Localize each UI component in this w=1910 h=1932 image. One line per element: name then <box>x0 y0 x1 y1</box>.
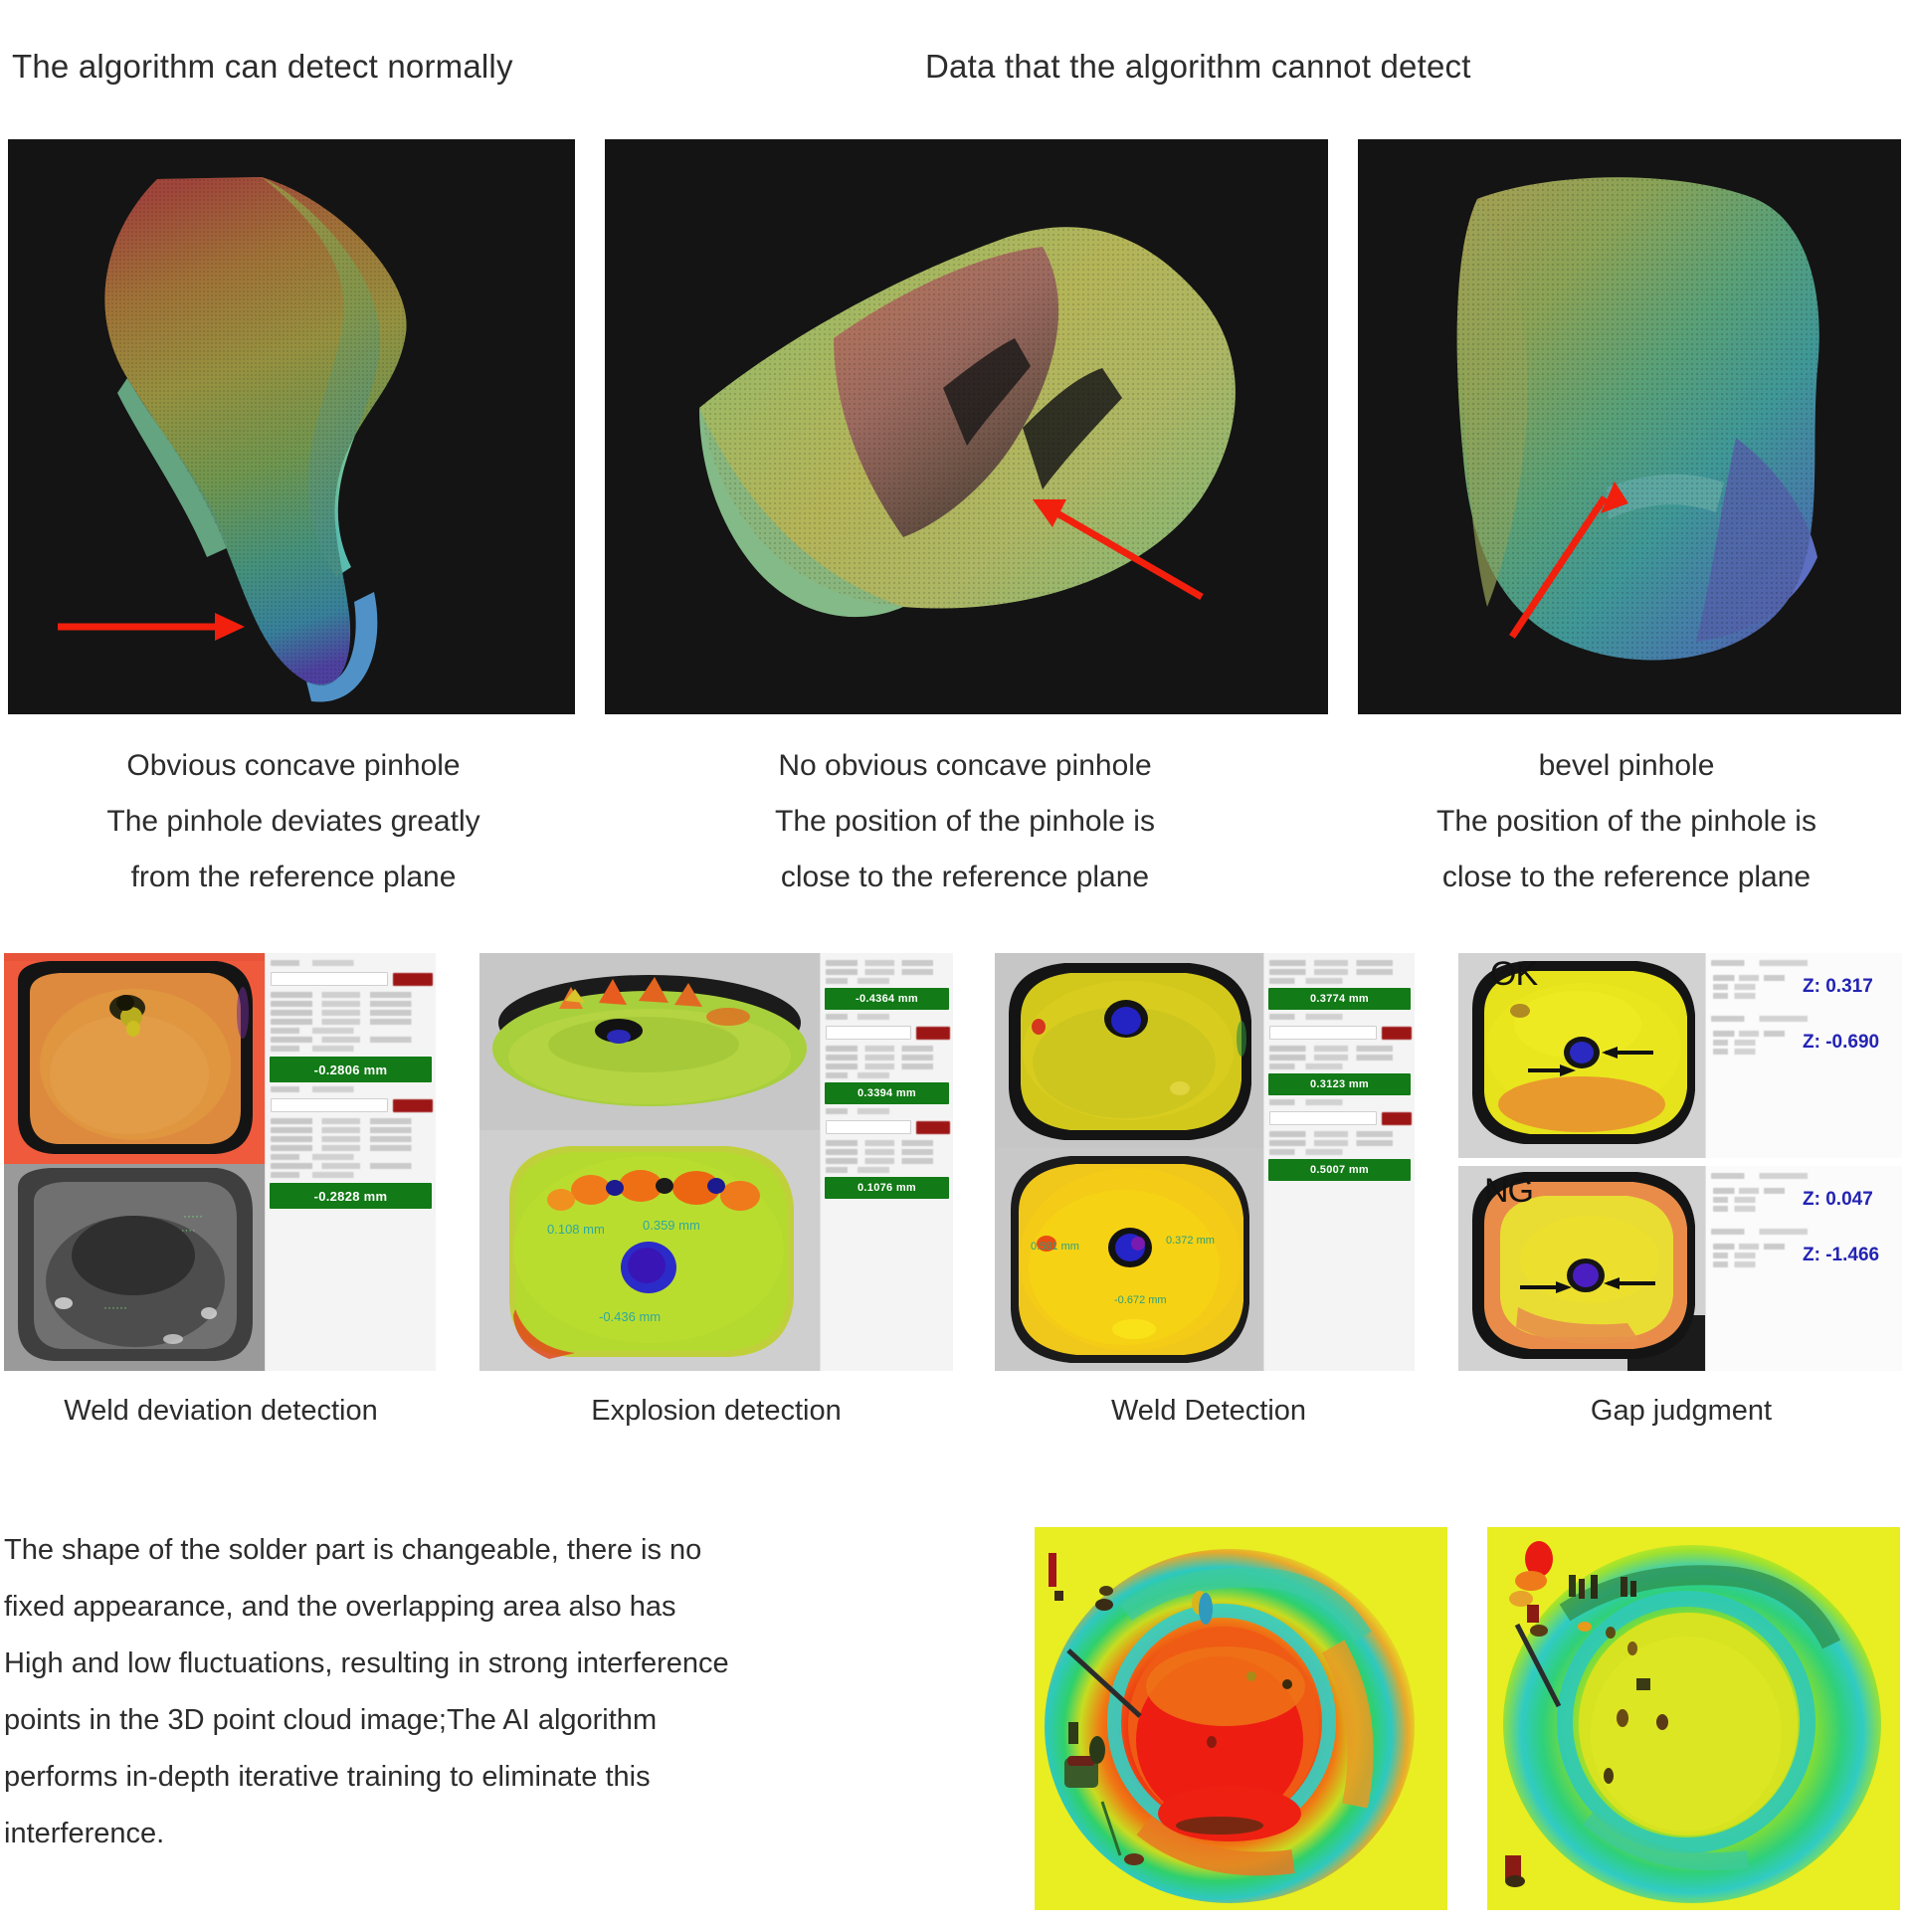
ui-text-input[interactable] <box>1269 1026 1377 1040</box>
ui-label-line <box>826 1014 948 1020</box>
z-meta <box>1711 972 1797 1002</box>
caption-weld-deviation-detection: Weld deviation detection <box>0 1395 442 1428</box>
point-cloud-row <box>0 139 1910 716</box>
gap-spacer <box>1458 1158 1902 1166</box>
gap-judgment-ng-block: NG Z: 0.047 <box>1458 1166 1902 1371</box>
explosion-heightmap-image: 0.108 mm 0.359 mm -0.436 mm <box>479 1130 820 1371</box>
ui-text-input[interactable] <box>271 1098 388 1112</box>
explosion-heightmap-render: 0.108 mm 0.359 mm -0.436 mm <box>479 1130 820 1371</box>
verdict-badge-ng: NG <box>1484 1172 1533 1211</box>
z-value-row: Z: 0.317 <box>1711 972 1897 1002</box>
caption-bevel-pinhole: bevel pinhole The position of the pinhol… <box>1343 738 1910 905</box>
weld-color-image <box>4 953 265 1164</box>
weld-detection-3d-render <box>995 953 1263 1148</box>
caption-line: from the reference plane <box>0 850 587 905</box>
point-cloud-render-1 <box>8 139 575 714</box>
ui-label-line <box>826 1072 948 1078</box>
explosion-3d-image <box>479 953 820 1130</box>
ui-label-line <box>1269 1099 1410 1105</box>
ui-label-line <box>271 1086 431 1092</box>
measurement-value-badge: 0.3394 mm <box>825 1082 949 1104</box>
paragraph-line: The shape of the solder part is changeab… <box>4 1522 1019 1579</box>
measurement-value-badge: -0.4364 mm <box>825 988 949 1010</box>
header-detect-normally: The algorithm can detect normally <box>12 48 513 86</box>
ui-label-line <box>271 1046 431 1052</box>
z-value: Z: 0.317 <box>1803 976 1873 998</box>
paragraph-line: performs in-depth iterative training to … <box>4 1749 1019 1806</box>
ui-label-line <box>1713 1197 1795 1203</box>
paragraph-line: points in the 3D point cloud image;The A… <box>4 1692 1019 1749</box>
ui-label-line <box>1713 1261 1795 1267</box>
gap-ng-side-panel[interactable]: Z: 0.047 Z: -1.466 <box>1705 1166 1902 1371</box>
svg-text:·····: ····· <box>183 1209 203 1223</box>
ui-label-line <box>271 1037 431 1043</box>
point-cloud-render-3 <box>1358 139 1901 714</box>
ui-label-line <box>271 1010 431 1016</box>
svg-text:····: ···· <box>181 1225 196 1237</box>
caption-line: No obvious concave pinhole <box>597 738 1333 794</box>
ui-text-input[interactable] <box>826 1120 911 1134</box>
ui-label-line <box>1713 975 1795 981</box>
verdict-badge-ok: OK <box>1490 955 1537 994</box>
ui-label-line <box>271 1136 431 1142</box>
ui-label-line <box>271 1154 431 1160</box>
ui-group <box>269 960 433 1052</box>
ui-text-input[interactable] <box>826 1026 911 1040</box>
ui-label-line <box>826 960 948 966</box>
weld-detection-heightmap-render: 0.581 mm 0.372 mm -0.672 mm <box>995 1148 1263 1371</box>
ui-group <box>269 1086 433 1178</box>
ui-label-line <box>826 1108 948 1114</box>
weld-detection-3d-image <box>995 953 1263 1148</box>
description-paragraph: The shape of the solder part is changeab… <box>4 1522 1019 1862</box>
ui-delete-button[interactable] <box>393 1099 433 1112</box>
ui-label-line <box>1269 960 1410 966</box>
ui-label-line <box>1269 978 1410 984</box>
z-meta <box>1711 1241 1797 1270</box>
app-shot-gap-judgment: OK Z: 0.317 <box>1458 953 1902 1371</box>
ui-label-line <box>271 1118 431 1124</box>
ui-label-line <box>1711 1173 1897 1179</box>
caption-line: close to the reference plane <box>597 850 1333 905</box>
ui-label-line <box>271 1145 431 1151</box>
ui-label-line <box>271 1172 431 1178</box>
app-shot-weld-deviation-detection: ····· ···· ······ -0.2 <box>4 953 436 1371</box>
ui-label-line <box>1269 1149 1410 1155</box>
ui-label-line <box>826 978 948 984</box>
ui-label-line <box>1713 1244 1795 1250</box>
heightmap-hot-center <box>1035 1527 1447 1910</box>
caption-line: bevel pinhole <box>1343 738 1910 794</box>
ui-label-line <box>1713 1040 1795 1046</box>
measurement-value-badge: 0.3123 mm <box>1268 1073 1411 1095</box>
ui-label-line <box>271 1001 431 1007</box>
section-headers: The algorithm can detect normally Data t… <box>0 48 1910 97</box>
ui-label-line <box>826 1158 948 1164</box>
overlay-label: 0.359 mm <box>643 1218 700 1233</box>
ui-delete-button[interactable] <box>1382 1112 1412 1125</box>
ui-label-line <box>826 1046 948 1052</box>
svg-text:······: ······ <box>103 1300 127 1314</box>
measurement-value-badge: -0.2828 mm <box>270 1183 432 1209</box>
weld-color-render <box>4 953 265 1164</box>
z-meta <box>1711 1185 1797 1215</box>
z-value: Z: 0.047 <box>1803 1189 1873 1211</box>
measurement-value-badge: 0.5007 mm <box>1268 1159 1411 1181</box>
ui-label-line <box>1269 1131 1410 1137</box>
point-cloud-no-obvious-concave-pinhole <box>605 139 1328 714</box>
weld-detection-side-panel[interactable]: 0.3774 mm 0.3123 mm 0.5007 mm <box>1263 953 1415 1371</box>
ui-delete-button[interactable] <box>393 973 433 986</box>
ui-label-line <box>1713 1049 1795 1055</box>
ui-label-line <box>826 1140 948 1146</box>
caption-line: The pinhole deviates greatly <box>0 794 587 850</box>
heightmap-cool-center <box>1487 1527 1900 1910</box>
caption-explosion-detection: Explosion detection <box>458 1395 975 1428</box>
overlay-label: 0.581 mm <box>1031 1241 1079 1253</box>
weld-deviation-side-panel[interactable]: -0.2806 mm -0.2828 mm <box>265 953 436 1371</box>
z-value-row: Z: -0.690 <box>1711 1028 1897 1058</box>
ui-label-line <box>271 1163 431 1169</box>
point-cloud-render-2 <box>605 139 1328 714</box>
ui-delete-button[interactable] <box>916 1121 950 1134</box>
caption-no-obvious-concave-pinhole: No obvious concave pinhole The position … <box>597 738 1333 905</box>
app-screenshot-row: ····· ···· ······ -0.2 <box>0 953 1910 1381</box>
caption-weld-detection: Weld Detection <box>995 1395 1423 1428</box>
point-cloud-captions: Obvious concave pinhole The pinhole devi… <box>0 738 1910 897</box>
ui-label-line <box>826 1055 948 1061</box>
z-value: Z: -1.466 <box>1803 1245 1879 1266</box>
measurement-value-badge: -0.2806 mm <box>270 1057 432 1082</box>
point-cloud-obvious-concave-pinhole <box>8 139 575 714</box>
z-value: Z: -0.690 <box>1803 1032 1879 1054</box>
shot-image-stack: 0.581 mm 0.372 mm -0.672 mm <box>995 953 1263 1371</box>
measurement-value-badge: 0.1076 mm <box>825 1177 949 1199</box>
caption-line: The position of the pinhole is <box>1343 794 1910 850</box>
paragraph-line: High and low fluctuations, resulting in … <box>4 1636 1019 1692</box>
caption-obvious-concave-pinhole: Obvious concave pinhole The pinhole devi… <box>0 738 587 905</box>
ui-label-line <box>1713 1253 1795 1258</box>
point-cloud-bevel-pinhole <box>1358 139 1901 714</box>
ui-label-line <box>1713 984 1795 990</box>
ui-label-line <box>1713 1206 1795 1212</box>
shot-image-stack: 0.108 mm 0.359 mm -0.436 mm <box>479 953 820 1371</box>
shot-image-stack: ····· ···· ······ <box>4 953 265 1371</box>
caption-line: Obvious concave pinhole <box>0 738 587 794</box>
ui-label-line <box>826 1063 948 1069</box>
caption-line: close to the reference plane <box>1343 850 1910 905</box>
header-cannot-detect: Data that the algorithm cannot detect <box>925 48 1471 86</box>
app-shot-weld-detection: 0.581 mm 0.372 mm -0.672 mm 0.3774 mm 0.… <box>995 953 1415 1371</box>
ui-text-input[interactable] <box>271 972 388 986</box>
heightmap-row <box>1035 1527 1900 1915</box>
caption-gap-judgment: Gap judgment <box>1462 1395 1900 1428</box>
gap-judgment-ok-block: OK Z: 0.317 <box>1458 953 1902 1158</box>
ui-label-line <box>271 992 431 998</box>
app-shot-explosion-detection: 0.108 mm 0.359 mm -0.436 mm -0.4364 mm 0… <box>479 953 953 1371</box>
ui-label-line <box>1711 1016 1897 1022</box>
app-caption-row: Weld deviation detection Explosion detec… <box>0 1395 1910 1454</box>
ui-delete-button[interactable] <box>1382 1027 1412 1040</box>
ui-text-input[interactable] <box>1269 1111 1377 1125</box>
ui-label-line <box>1269 1046 1410 1052</box>
ui-label-line <box>271 1028 431 1034</box>
ui-label-line <box>1713 1188 1795 1194</box>
ui-label-line <box>1269 1014 1410 1020</box>
heightmap-hot-render <box>1035 1527 1447 1910</box>
z-value-row: Z: -1.466 <box>1711 1241 1897 1270</box>
weld-detection-heightmap-image: 0.581 mm 0.372 mm -0.672 mm <box>995 1148 1263 1371</box>
z-meta <box>1711 1028 1797 1058</box>
ui-label-line <box>1713 1031 1795 1037</box>
measurement-value-badge: 0.3774 mm <box>1268 988 1411 1010</box>
ui-delete-button[interactable] <box>916 1027 950 1040</box>
ui-label-line <box>1711 1229 1897 1235</box>
ui-label-line <box>1269 1055 1410 1061</box>
explosion-side-panel[interactable]: -0.4364 mm 0.3394 mm 0.1076 mm <box>820 953 953 1371</box>
explosion-3d-render <box>479 953 820 1130</box>
paragraph-line: fixed appearance, and the overlapping ar… <box>4 1579 1019 1636</box>
weld-gray-render: ····· ···· ······ <box>4 1164 265 1371</box>
heightmap-cool-render <box>1487 1527 1900 1910</box>
gap-ok-side-panel[interactable]: Z: 0.317 Z: -0.690 <box>1705 953 1902 1158</box>
ui-label-line <box>826 1167 948 1173</box>
ui-label-line <box>271 1019 431 1025</box>
ui-label-line <box>1269 1140 1410 1146</box>
ui-label-line <box>826 969 948 975</box>
paragraph-line: interference. <box>4 1806 1019 1862</box>
ui-label-line <box>826 1149 948 1155</box>
ui-label-line <box>1711 960 1897 966</box>
caption-line: The position of the pinhole is <box>597 794 1333 850</box>
overlay-label: 0.372 mm <box>1166 1235 1215 1247</box>
overlay-label: -0.672 mm <box>1114 1294 1167 1306</box>
ui-label-line <box>1713 993 1795 999</box>
overlay-label: -0.436 mm <box>599 1309 661 1324</box>
z-value-row: Z: 0.047 <box>1711 1185 1897 1215</box>
ui-label-line <box>1269 969 1410 975</box>
weld-gray-image: ····· ···· ······ <box>4 1164 265 1371</box>
ui-label-line <box>1269 1063 1410 1069</box>
ui-label-line <box>271 1127 431 1133</box>
ui-label-line <box>271 960 431 966</box>
overlay-label: 0.108 mm <box>547 1222 605 1237</box>
